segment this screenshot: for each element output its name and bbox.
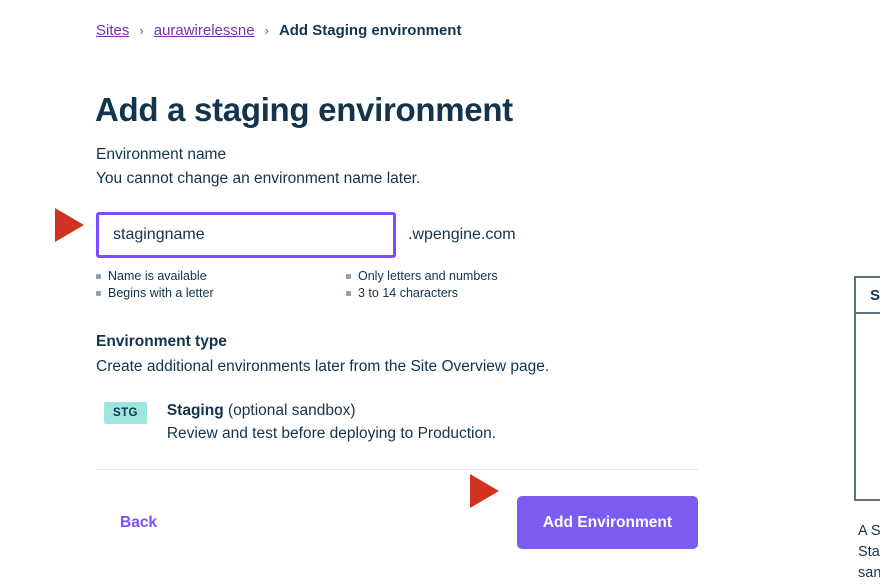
environment-option-title: Staging (optional sandbox): [167, 400, 496, 422]
side-panel-text-line: A Si: [858, 521, 880, 542]
add-environment-form: Environment name You cannot change an en…: [96, 143, 706, 549]
section-divider: [96, 469, 698, 470]
environment-option-text: Staging (optional sandbox) Review and te…: [167, 400, 496, 445]
side-panel-card: S: [854, 276, 880, 501]
pointer-arrow-icon: [470, 474, 499, 508]
bullet-icon: [96, 274, 101, 279]
validation-hints: Name is available Only letters and numbe…: [96, 268, 706, 302]
validation-hint: Only letters and numbers: [346, 268, 706, 285]
bullet-icon: [346, 274, 351, 279]
breadcrumb-item-site[interactable]: aurawirelessne: [154, 20, 255, 42]
domain-suffix-label: .wpengine.com: [408, 226, 516, 244]
environment-type-title: Environment type: [96, 330, 706, 353]
environment-option-staging[interactable]: STG Staging (optional sandbox) Review an…: [96, 400, 706, 445]
breadcrumb-item-current: Add Staging environment: [279, 20, 462, 42]
bullet-icon: [346, 291, 351, 296]
validation-hint-label: Begins with a letter: [108, 285, 214, 302]
validation-hint: Name is available: [96, 268, 346, 285]
validation-hint: Begins with a letter: [96, 285, 346, 302]
form-actions: Back Add Environment: [96, 496, 698, 549]
side-panel-text-line: san: [858, 563, 880, 584]
environment-name-label: Environment name: [96, 143, 706, 166]
side-panel-text: A Si Stag san: [858, 521, 880, 584]
page-title: Add a staging environment: [95, 89, 513, 131]
validation-hint: 3 to 14 characters: [346, 285, 706, 302]
side-panel-card-title: S: [856, 278, 880, 314]
validation-hint-label: Name is available: [108, 268, 207, 285]
environment-name-row: .wpengine.com: [96, 212, 706, 258]
pointer-arrow-icon: [55, 208, 84, 242]
environment-option-description: Review and test before deploying to Prod…: [167, 423, 496, 445]
environment-name-help: You cannot change an environment name la…: [96, 167, 706, 190]
breadcrumb-separator-icon: ›: [139, 20, 143, 42]
environment-name-input[interactable]: [96, 212, 396, 258]
bullet-icon: [96, 291, 101, 296]
side-panel-card-body: [856, 314, 880, 535]
add-environment-button[interactable]: Add Environment: [517, 496, 698, 549]
environment-option-name: Staging: [167, 402, 224, 419]
breadcrumb: Sites › aurawirelessne › Add Staging env…: [96, 20, 461, 42]
side-panel-text-line: Stag: [858, 542, 880, 563]
environment-option-qualifier: (optional sandbox): [228, 402, 356, 419]
back-button[interactable]: Back: [120, 514, 157, 532]
breadcrumb-item-sites[interactable]: Sites: [96, 20, 129, 42]
environment-type-description: Create additional environments later fro…: [96, 355, 706, 378]
validation-hint-label: 3 to 14 characters: [358, 285, 458, 302]
validation-hint-label: Only letters and numbers: [358, 268, 498, 285]
staging-badge: STG: [104, 402, 147, 424]
breadcrumb-separator-icon: ›: [265, 20, 269, 42]
